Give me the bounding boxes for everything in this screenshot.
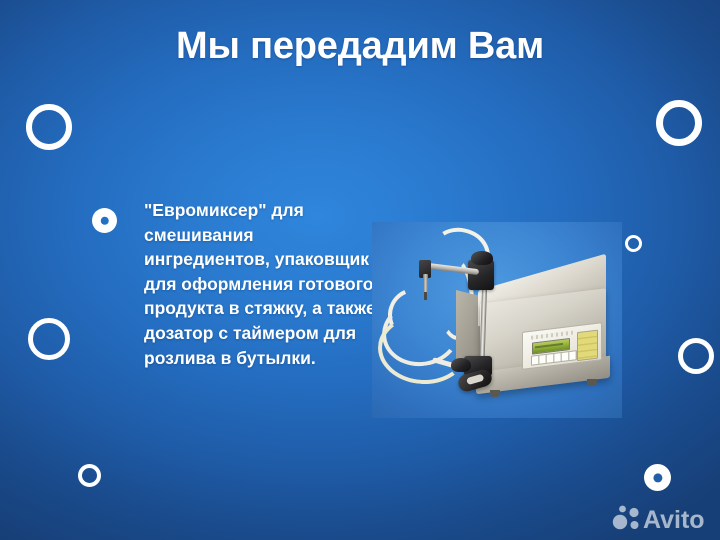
ring-top-right-icon	[656, 100, 702, 146]
avito-logo-icon: Avito	[612, 500, 712, 532]
ring-top-left-icon	[26, 104, 72, 150]
body-text: "Евромиксер" для смешивания ингредиентов…	[144, 198, 376, 370]
machine-foot-right	[587, 379, 597, 386]
clamp-knob-upper	[471, 251, 493, 265]
avito-watermark: Avito	[612, 500, 712, 532]
ring-bottom-left-icon	[78, 464, 101, 487]
slide-canvas: Мы передадим Вам "Евромиксер" для смешив…	[0, 0, 720, 540]
clamp-knob-lower	[451, 358, 471, 372]
ring-mid-right-icon	[678, 338, 714, 374]
ring-mid-left-icon	[28, 318, 70, 360]
product-photo	[372, 222, 622, 418]
avito-wordmark: Avito	[643, 506, 705, 532]
dot-bottom-right-icon	[644, 464, 671, 491]
filling-nozzle	[423, 274, 428, 294]
bullet-dot-icon	[92, 208, 117, 233]
page-title: Мы передадим Вам	[0, 24, 720, 68]
panel-keypad	[577, 330, 598, 362]
nozzle-tip	[424, 292, 427, 300]
ring-small-right-icon	[625, 235, 642, 252]
machine-foot-left	[490, 390, 500, 397]
